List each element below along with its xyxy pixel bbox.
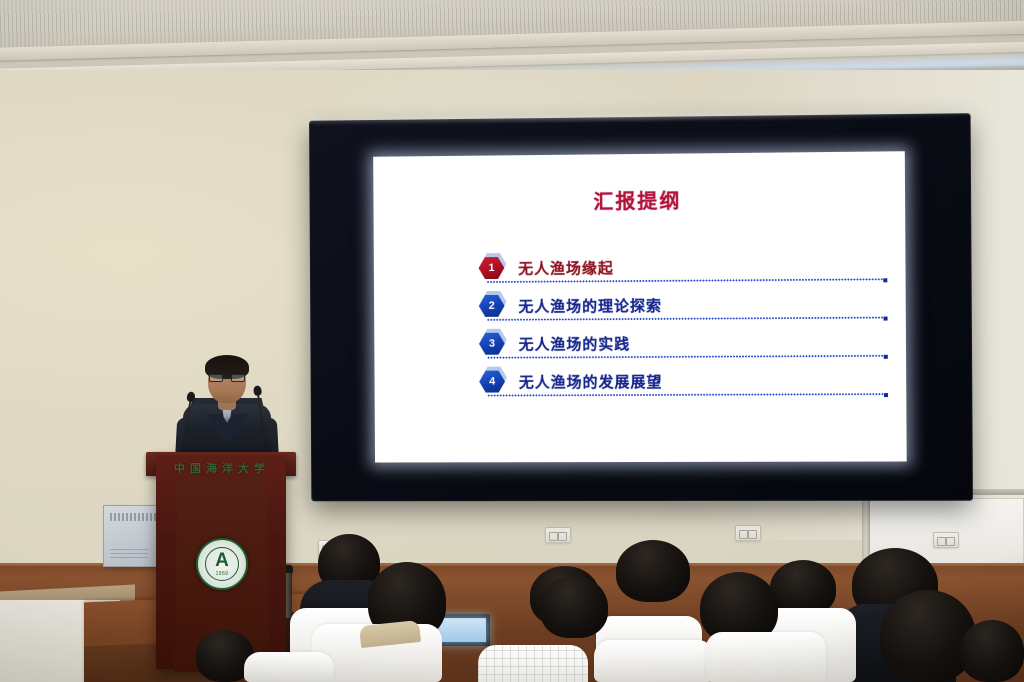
audience-head [880, 590, 976, 682]
leader-line [487, 355, 886, 359]
power-outlet [735, 525, 761, 541]
leader-line [487, 278, 886, 283]
outline-item-3: 3 无人渔场的实践 [479, 323, 880, 363]
laptop-screen [436, 618, 486, 642]
projection-surface: 汇报提纲 1 无人渔场缘起 2 无人渔场的理论探索 [373, 151, 907, 462]
outline-item-1: 1 无人渔场缘起 [478, 246, 879, 287]
outline-item-4: 4 无人渔场的发展展望 [479, 361, 880, 401]
outline-item-label: 无人渔场缘起 [518, 257, 614, 279]
podium-banner-text: 中国海洋大学 [152, 460, 292, 476]
audience-head [960, 620, 1024, 682]
emblem-glyph: A [198, 551, 246, 570]
auditorium-chair [244, 652, 334, 682]
slide-outline-list: 1 无人渔场缘起 2 无人渔场的理论探索 3 [399, 246, 880, 401]
outline-item-label: 无人渔场的实践 [519, 333, 631, 355]
outline-item-label: 无人渔场的发展展望 [519, 370, 663, 392]
power-outlet [545, 527, 571, 543]
leader-line [487, 317, 886, 321]
audience-head [616, 540, 690, 602]
eyeglasses-icon [209, 374, 245, 382]
emblem-year: 1959 [198, 571, 246, 577]
outline-item-2: 2 无人渔场的理论探索 [479, 284, 880, 325]
audience-head [540, 576, 608, 638]
outline-item-label: 无人渔场的理论探索 [518, 294, 662, 316]
projection-screen-frame: 汇报提纲 1 无人渔场缘起 2 无人渔场的理论探索 [310, 114, 972, 500]
leader-end-dot-icon [883, 278, 887, 282]
slide-title: 汇报提纲 [399, 183, 879, 216]
audience-plaid-shirt [478, 645, 588, 682]
lens-right [231, 374, 245, 382]
auditorium-chair [706, 632, 826, 682]
glasses-bridge [223, 377, 231, 378]
university-emblem-icon: A 1959 [196, 538, 248, 590]
leader-end-dot-icon [884, 393, 888, 397]
presentation-slide: 汇报提纲 1 无人渔场缘起 2 无人渔场的理论探索 [373, 151, 907, 462]
cabinet-sub-text [110, 547, 148, 558]
leader-line [487, 393, 886, 396]
leader-end-dot-icon [884, 355, 888, 359]
lens-left [209, 374, 223, 382]
presentation-photo-scene: 汇报提纲 1 无人渔场缘起 2 无人渔场的理论探索 [0, 0, 1024, 682]
auditorium-chair [594, 640, 714, 682]
leader-end-dot-icon [884, 317, 888, 321]
power-outlet [933, 532, 959, 548]
